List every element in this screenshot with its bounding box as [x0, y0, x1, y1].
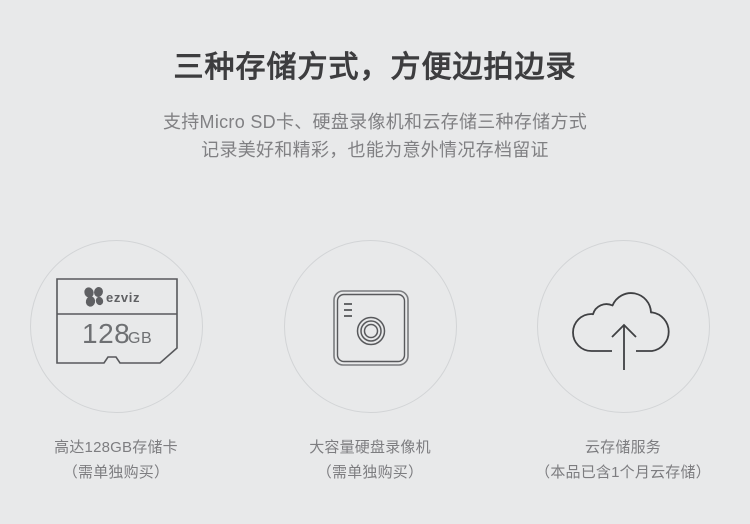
subtitle-line-2: 记录美好和精彩，也能为意外情况存档留证 [0, 136, 750, 164]
feature-caption-nvr: 大容量硬盘录像机 （需单独购买） [245, 435, 495, 485]
subtitle-line-1: 支持Micro SD卡、硬盘录像机和云存储三种存储方式 [0, 108, 750, 136]
upload-arrow [612, 325, 636, 370]
icon-circle-sd-card: ezviz 128 GB [30, 240, 203, 413]
ezviz-logo-mark [83, 285, 104, 307]
feature-row: ezviz 128 GB 高达128GB存储卡 （需单独购买） [0, 240, 750, 500]
page-title: 三种存储方式，方便边拍边录 [0, 48, 750, 88]
sd-capacity-number: 128 [82, 318, 130, 349]
cloud-upload-icon [538, 241, 711, 414]
power-rings [358, 317, 385, 344]
sd-capacity-unit: GB [128, 330, 152, 347]
caption-line-1: 云存储服务 [498, 435, 748, 460]
caption-line-2: （需单独购买） [245, 460, 495, 485]
vent-dashes [344, 304, 352, 316]
feature-item-sd-card: ezviz 128 GB 高达128GB存储卡 （需单独购买） [0, 240, 241, 485]
icon-circle-nvr [284, 240, 457, 413]
feature-caption-cloud: 云存储服务 （本品已含1个月云存储） [498, 435, 748, 485]
icon-circle-cloud [537, 240, 710, 413]
caption-line-2: （本品已含1个月云存储） [498, 460, 748, 485]
ezviz-brand-text: ezviz [106, 290, 140, 305]
feature-item-cloud: 云存储服务 （本品已含1个月云存储） [498, 240, 748, 485]
caption-line-1: 大容量硬盘录像机 [245, 435, 495, 460]
microsd-card-icon: ezviz 128 GB [31, 241, 204, 414]
page-subtitle: 支持Micro SD卡、硬盘录像机和云存储三种存储方式 记录美好和精彩，也能为意… [0, 108, 750, 164]
feature-caption-sd-card: 高达128GB存储卡 （需单独购买） [0, 435, 241, 485]
feature-item-nvr: 大容量硬盘录像机 （需单独购买） [245, 240, 495, 485]
caption-line-1: 高达128GB存储卡 [0, 435, 241, 460]
caption-line-2: （需单独购买） [0, 460, 241, 485]
heading-block: 三种存储方式，方便边拍边录 支持Micro SD卡、硬盘录像机和云存储三种存储方… [0, 48, 750, 164]
storage-options-promo-page: 三种存储方式，方便边拍边录 支持Micro SD卡、硬盘录像机和云存储三种存储方… [0, 0, 750, 524]
nvr-recorder-icon [285, 241, 458, 414]
